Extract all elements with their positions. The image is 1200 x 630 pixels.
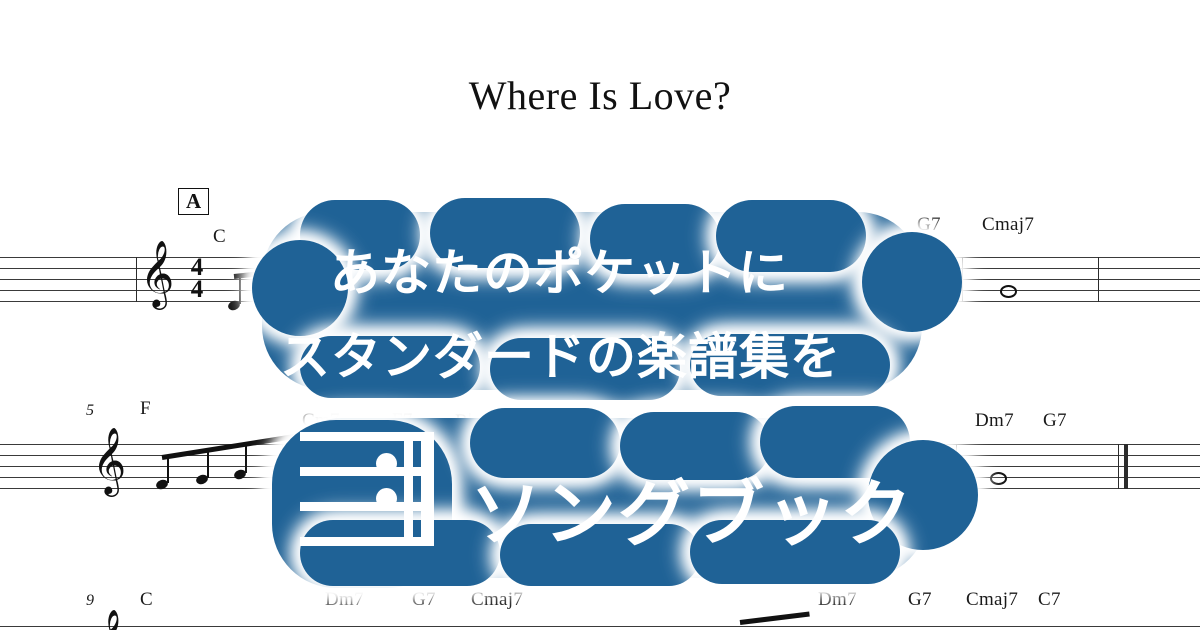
note-stem [311, 269, 313, 293]
time-signature-denominator: 4 [186, 278, 208, 301]
chord-symbol: G7 [908, 589, 932, 611]
barline [814, 257, 815, 302]
chord-symbol: A♭maj7 [712, 410, 774, 433]
notehead [329, 470, 343, 483]
chord-symbol: G7 [1043, 410, 1067, 432]
chord-symbol: Dm7 [378, 214, 417, 236]
chord-symbol: Cm7 [302, 410, 340, 432]
chord-symbol: B♭m7 [562, 410, 609, 433]
chord-symbol: C [140, 589, 153, 611]
barline [1098, 257, 1099, 302]
note-stem [167, 457, 169, 483]
staff-line [0, 268, 1200, 269]
staff-line [0, 626, 1200, 627]
chord-symbol: F7 [392, 410, 413, 432]
staff-line [0, 444, 1200, 445]
staff-line [0, 257, 1200, 258]
notehead-whole [990, 472, 1007, 485]
notehead [559, 472, 573, 485]
rehearsal-mark-a: A [178, 188, 209, 215]
staff-lines: 𝄞 4 4 𝇁 [0, 257, 1200, 303]
barline [962, 257, 963, 302]
chord-symbol: Dm7 [975, 410, 1014, 432]
barline [588, 257, 589, 302]
staff-lines: 𝄞 [0, 444, 1200, 490]
note-stem [245, 446, 247, 473]
chord-symbol: Cmaj7 [471, 589, 523, 611]
treble-clef-icon: 𝄞 [92, 613, 126, 630]
barline [900, 444, 901, 489]
notehead [600, 286, 617, 299]
chord-symbol: G7 [917, 214, 941, 236]
notehead-whole [1000, 285, 1017, 298]
chord-symbol: Dm7 [325, 589, 364, 611]
staff-lines [0, 626, 1200, 630]
staff-line [0, 488, 1200, 489]
chord-symbol: Cmaj7 [982, 214, 1034, 236]
eighth-flag-icon: 𝇁 [926, 256, 929, 286]
chord-symbol: Cmaj7 [540, 214, 592, 236]
chord-symbol: Dm7 [818, 589, 857, 611]
treble-clef-icon: 𝄞 [92, 431, 126, 489]
barline [136, 257, 137, 302]
staff-line [0, 279, 1200, 280]
barline [700, 444, 701, 489]
notehead [367, 283, 381, 296]
note-stem [239, 276, 241, 304]
chord-symbol: C [213, 226, 226, 248]
staff-line [0, 477, 1200, 478]
chord-symbol: G7 [412, 589, 436, 611]
barline [956, 444, 957, 489]
chord-symbol: Dm7 [830, 214, 869, 236]
note-stem [207, 451, 209, 478]
final-barline [1124, 444, 1128, 489]
barline [1118, 444, 1119, 489]
chord-symbol: E♭7 [629, 410, 660, 433]
sheet-music-background: Where Is Love? A C Dm7 G7 Cmaj7 Dm7 G7 C… [0, 0, 1200, 630]
notehead [659, 468, 673, 481]
notehead [789, 286, 803, 299]
chord-symbol: C7 [1038, 589, 1061, 611]
chord-symbol: G7 [466, 214, 490, 236]
chord-symbol: F [140, 398, 151, 420]
staff-line [0, 301, 1200, 302]
beam [740, 611, 810, 624]
promo-banner: Where Is Love? A C Dm7 G7 Cmaj7 Dm7 G7 C… [0, 0, 1200, 630]
treble-clef-icon: 𝄞 [140, 244, 174, 302]
notehead [499, 285, 513, 298]
song-title: Where Is Love? [0, 72, 1200, 119]
notehead [699, 289, 713, 302]
barline [520, 444, 521, 489]
measure-number: 5 [86, 402, 94, 420]
chord-symbol: B♭maj7 [455, 410, 516, 433]
chord-symbol: Cmaj7 [966, 589, 1018, 611]
staff-line [0, 466, 1200, 467]
